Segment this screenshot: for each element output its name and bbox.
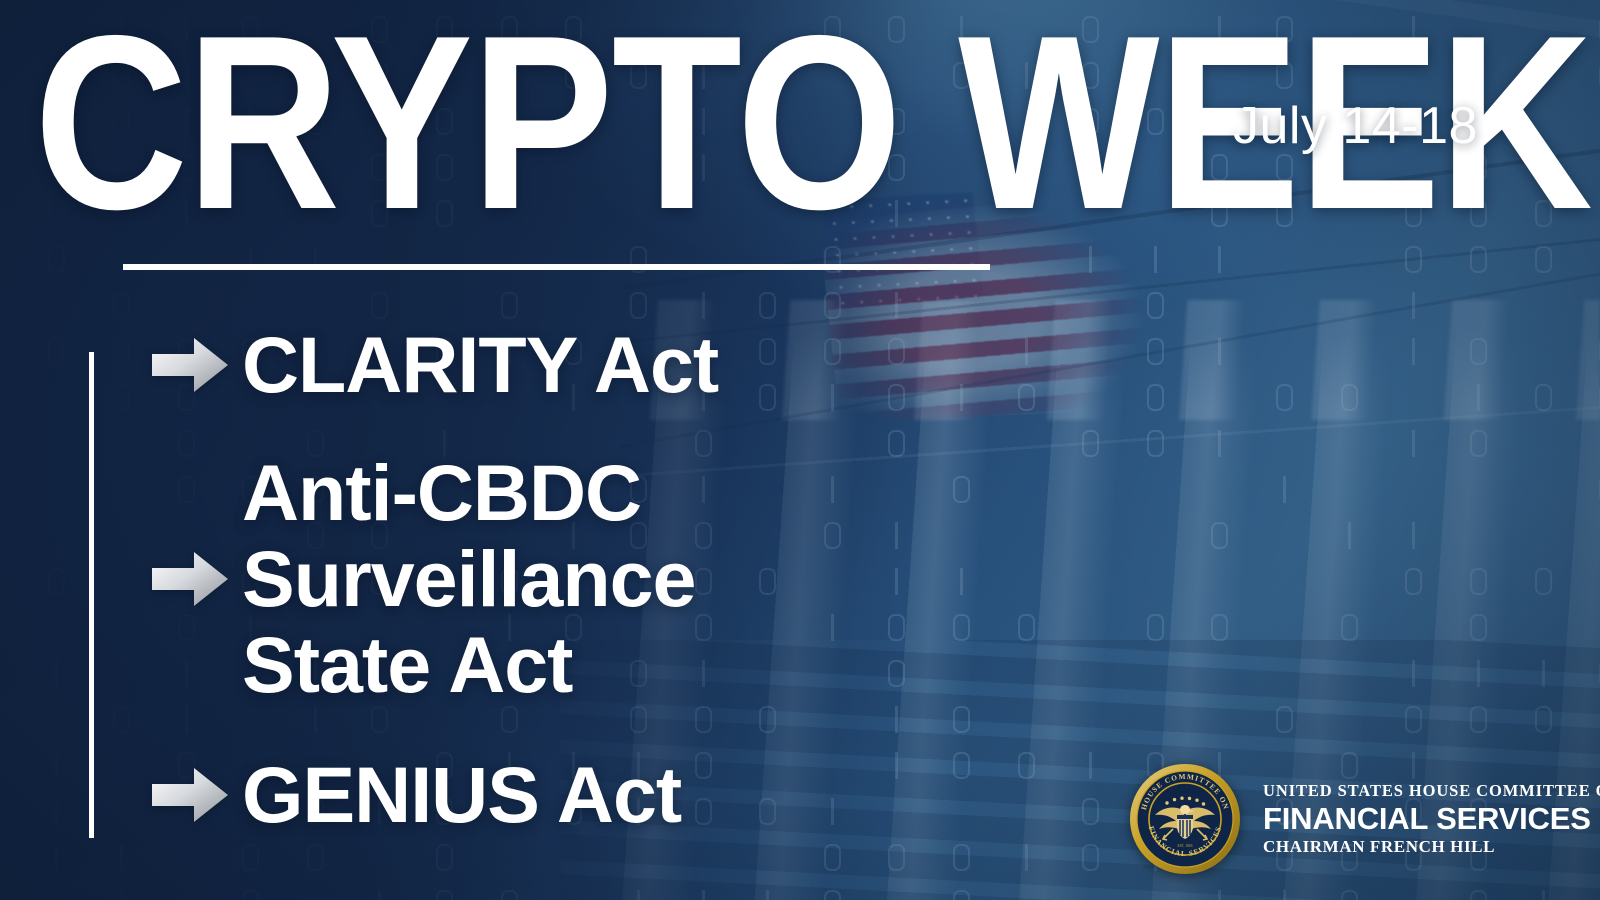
logo-line-financial-services: FINANCIAL SERVICES (1263, 801, 1600, 836)
list-item-label: GENIUS Act (242, 752, 681, 838)
arrow-right-icon (152, 338, 228, 392)
crypto-week-graphic: CRYPTO WEEK July 14-18 CLARITY Act (0, 0, 1600, 900)
list-item-label: Anti-CBDC Surveillance State Act (242, 450, 695, 708)
logo-line-chairman: CHAIRMAN FRENCH HILL (1263, 836, 1600, 857)
committee-logo-lockup: HOUSE COMMITTEE ON FINANCIAL SERVICES (1129, 763, 1600, 875)
svg-text:EST. 1865: EST. 1865 (1177, 844, 1192, 848)
eagle-shield-seal-icon: HOUSE COMMITTEE ON FINANCIAL SERVICES (1129, 763, 1241, 875)
list-item-label: CLARITY Act (242, 322, 718, 408)
list-item-clarity-act: CLARITY Act (152, 322, 718, 408)
list-item-genius-act: GENIUS Act (152, 752, 681, 838)
committee-logo-text: UNITED STATES HOUSE COMMITTEE ON FINANCI… (1263, 781, 1600, 857)
list-item-anti-cbdc-surveillance-state-act: Anti-CBDC Surveillance State Act (152, 450, 695, 708)
arrow-right-icon (152, 552, 228, 606)
logo-line-committee: UNITED STATES HOUSE COMMITTEE ON (1263, 781, 1600, 801)
arrow-right-icon (152, 768, 228, 822)
